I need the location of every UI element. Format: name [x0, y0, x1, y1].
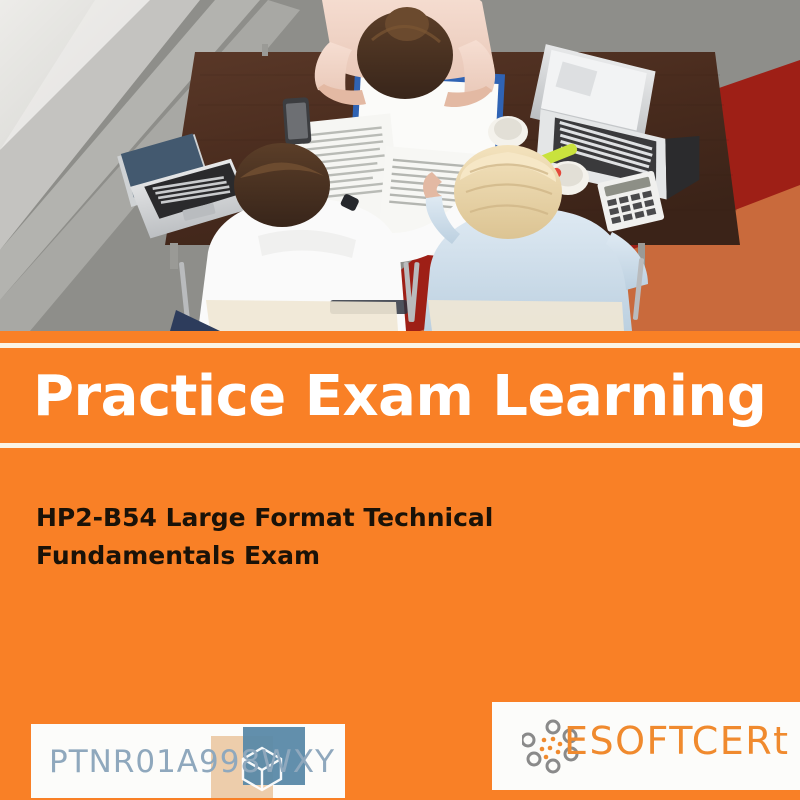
logo-esoftcert[interactable]: ESOFTCERt	[492, 702, 800, 790]
logo-ptnr[interactable]: PTNR01A998WXY	[31, 724, 345, 798]
meeting-photo	[0, 0, 800, 331]
exam-name: HP2-B54 Large Format Technical Fundament…	[36, 499, 596, 575]
meeting-photo-illustration	[0, 0, 800, 331]
logo-ptnr-label: PTNR01A998WXY	[49, 744, 335, 780]
title-rule-bottom	[0, 443, 800, 448]
person-top	[315, 0, 495, 107]
title-rule-top	[0, 343, 800, 348]
exam-promo-card: Practice Exam Learning HP2-B54 Large For…	[0, 0, 800, 800]
logo-esoftcert-label: ESOFTCERt	[564, 719, 790, 763]
page-title: Practice Exam Learning	[33, 357, 773, 435]
